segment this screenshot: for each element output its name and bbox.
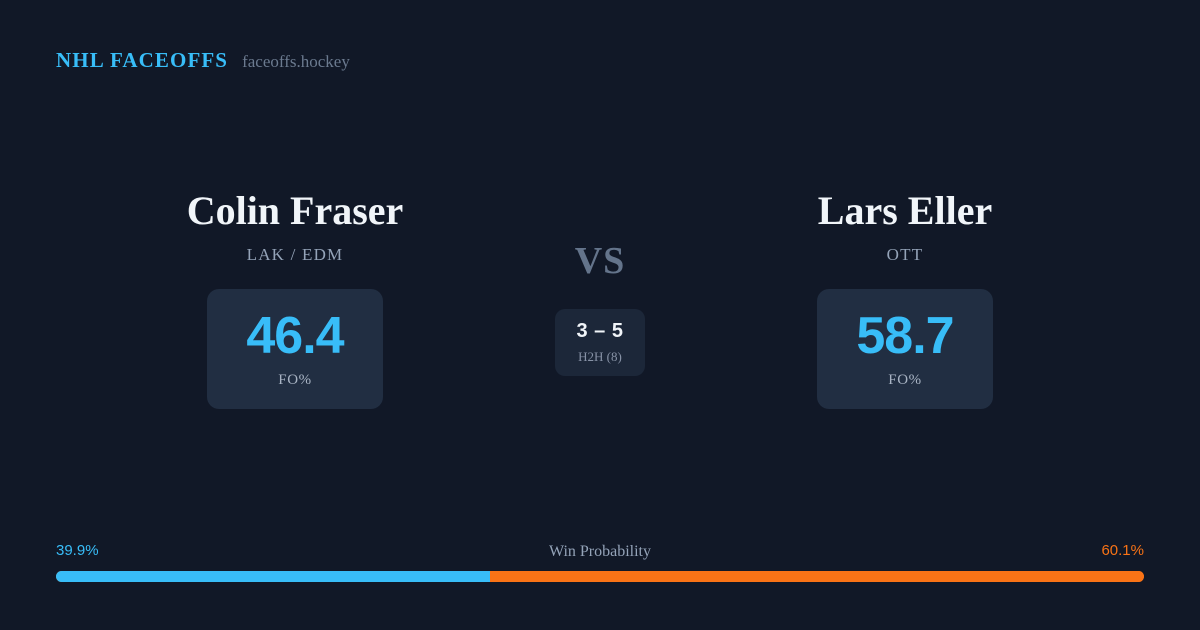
player-right-teams: OTT xyxy=(887,245,924,265)
player-left-stat-card: 46.4 FO% xyxy=(207,289,383,409)
page-root: NHL FACEOFFS faceoffs.hockey Colin Frase… xyxy=(0,0,1200,630)
win-probability-labels: 39.9% Win Probability 60.1% xyxy=(56,542,1144,564)
player-right-faceoff-label: FO% xyxy=(888,372,921,389)
player-right-faceoff-value: 58.7 xyxy=(856,310,953,362)
win-probability-title: Win Probability xyxy=(56,543,1144,561)
matchup-section: Colin Fraser LAK / EDM 46.4 FO% VS 3 – 5… xyxy=(0,190,1200,409)
player-left: Colin Fraser LAK / EDM 46.4 FO% xyxy=(80,190,510,409)
player-right-name: Lars Eller xyxy=(818,190,992,232)
player-right: Lars Eller OTT 58.7 FO% xyxy=(690,190,1120,409)
win-probability-bar xyxy=(56,571,1144,582)
site-header: NHL FACEOFFS faceoffs.hockey xyxy=(56,48,350,73)
win-probability-section: 39.9% Win Probability 60.1% xyxy=(56,542,1144,582)
vs-label: VS xyxy=(575,242,626,280)
head-to-head-box: 3 – 5 H2H (8) xyxy=(555,309,645,376)
head-to-head-score: 3 – 5 xyxy=(577,321,624,341)
player-left-teams: LAK / EDM xyxy=(247,245,344,265)
site-domain-label: faceoffs.hockey xyxy=(242,52,350,72)
player-left-faceoff-label: FO% xyxy=(278,372,311,389)
win-probability-bar-left-fill xyxy=(56,571,490,582)
head-to-head-label: H2H (8) xyxy=(578,349,622,365)
matchup-center: VS 3 – 5 H2H (8) xyxy=(510,190,690,376)
brand-title: NHL FACEOFFS xyxy=(56,48,228,73)
win-probability-right-pct: 60.1% xyxy=(1101,542,1144,559)
win-probability-bar-right-fill xyxy=(490,571,1144,582)
player-left-faceoff-value: 46.4 xyxy=(246,310,343,362)
player-right-stat-card: 58.7 FO% xyxy=(817,289,993,409)
player-left-name: Colin Fraser xyxy=(187,190,404,232)
